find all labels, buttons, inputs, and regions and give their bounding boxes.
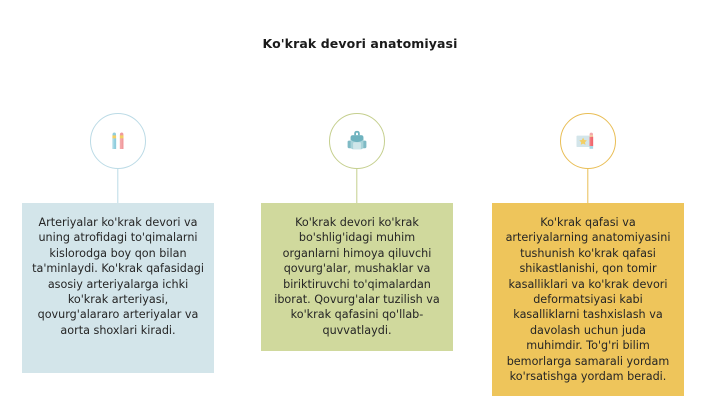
connector-line-3 <box>587 169 588 203</box>
text-card-1: Arteriyalar ko'krak devori va uning atro… <box>22 203 214 373</box>
node-circle-1 <box>90 113 146 169</box>
infographic-canvas: Ko'krak devori anatomiyasi Arteriyalar k… <box>0 0 720 406</box>
column-2: Ko'krak devori ko'krak bo'shlig'idagi mu… <box>242 0 472 406</box>
connector-line-2 <box>356 169 357 203</box>
column-1: Arteriyalar ko'krak devori va uning atro… <box>3 0 233 406</box>
column-3: Ko'krak qafasi va arteriyalarning anatom… <box>473 0 703 406</box>
node-circle-3 <box>560 113 616 169</box>
backpack-icon <box>340 124 374 158</box>
node-circle-2 <box>329 113 385 169</box>
notebook-pencil-icon <box>571 124 605 158</box>
crayons-icon <box>101 124 135 158</box>
text-card-2: Ko'krak devori ko'krak bo'shlig'idagi mu… <box>261 203 453 351</box>
connector-line-1 <box>117 169 118 203</box>
text-card-3: Ko'krak qafasi va arteriyalarning anatom… <box>492 203 684 396</box>
